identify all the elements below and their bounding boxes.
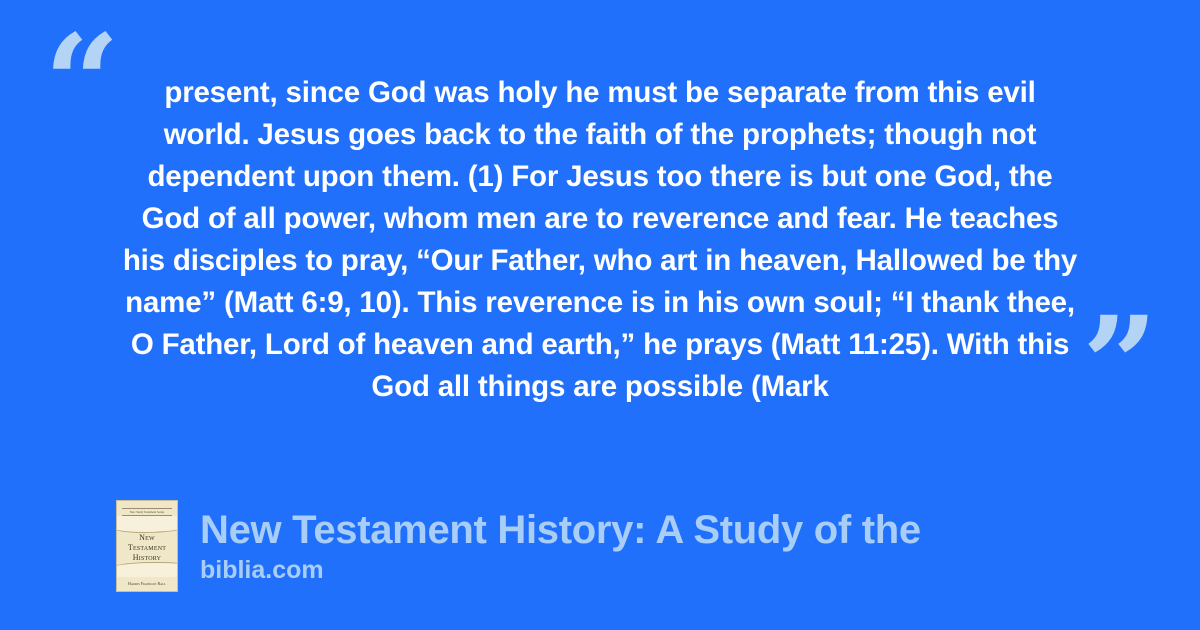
book-title: New Testament History: A Study of the xyxy=(200,507,921,553)
cover-swoosh-decoration xyxy=(116,516,178,533)
cover-title: New Testament History xyxy=(120,533,174,563)
cover-author: Harris Franklin Rall xyxy=(120,581,174,587)
cover-title-line-1: New xyxy=(120,533,174,543)
quote-close-icon: ” xyxy=(1082,300,1158,432)
site-name: biblia.com xyxy=(200,555,921,585)
quote-card: “ present, since God was holy he must be… xyxy=(0,0,1200,630)
quote-text: present, since God was holy he must be s… xyxy=(118,72,1082,408)
cover-wave-decoration xyxy=(116,562,178,577)
source-text-group: New Testament History: A Study of the bi… xyxy=(200,507,921,585)
book-cover-thumbnail: New Study Testament Series New Testament… xyxy=(116,500,178,592)
quote-block: present, since God was holy he must be s… xyxy=(0,72,1200,408)
source-footer: New Study Testament Series New Testament… xyxy=(116,500,921,592)
cover-series-label: New Study Testament Series xyxy=(122,508,172,516)
cover-title-line-2: Testament xyxy=(120,543,174,553)
